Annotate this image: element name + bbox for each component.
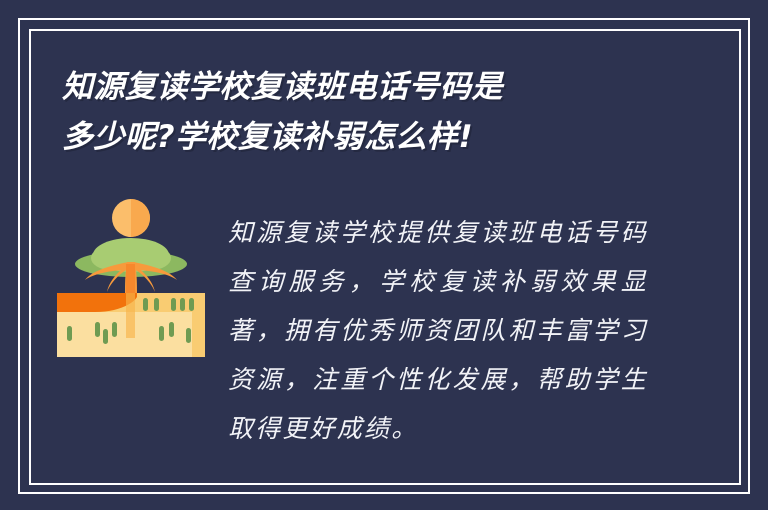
page-title-line-1: 知源复读学校复读班电话号码是 (62, 62, 662, 112)
savanna-landscape-illustration (55, 192, 207, 360)
ground-terrain (57, 293, 205, 357)
body-paragraph: 知源复读学校提供复读班电话号码查询服务，学校复读补弱效果显著，拥有优秀师资团队和… (228, 208, 648, 453)
poster-canvas: 知源复读学校复读班电话号码是 多少呢?学校复读补弱怎么样! (0, 0, 768, 510)
sun-icon (112, 199, 150, 237)
page-title: 知源复读学校复读班电话号码是 多少呢?学校复读补弱怎么样! (62, 62, 662, 162)
page-title-line-2: 多少呢?学校复读补弱怎么样! (62, 112, 662, 162)
